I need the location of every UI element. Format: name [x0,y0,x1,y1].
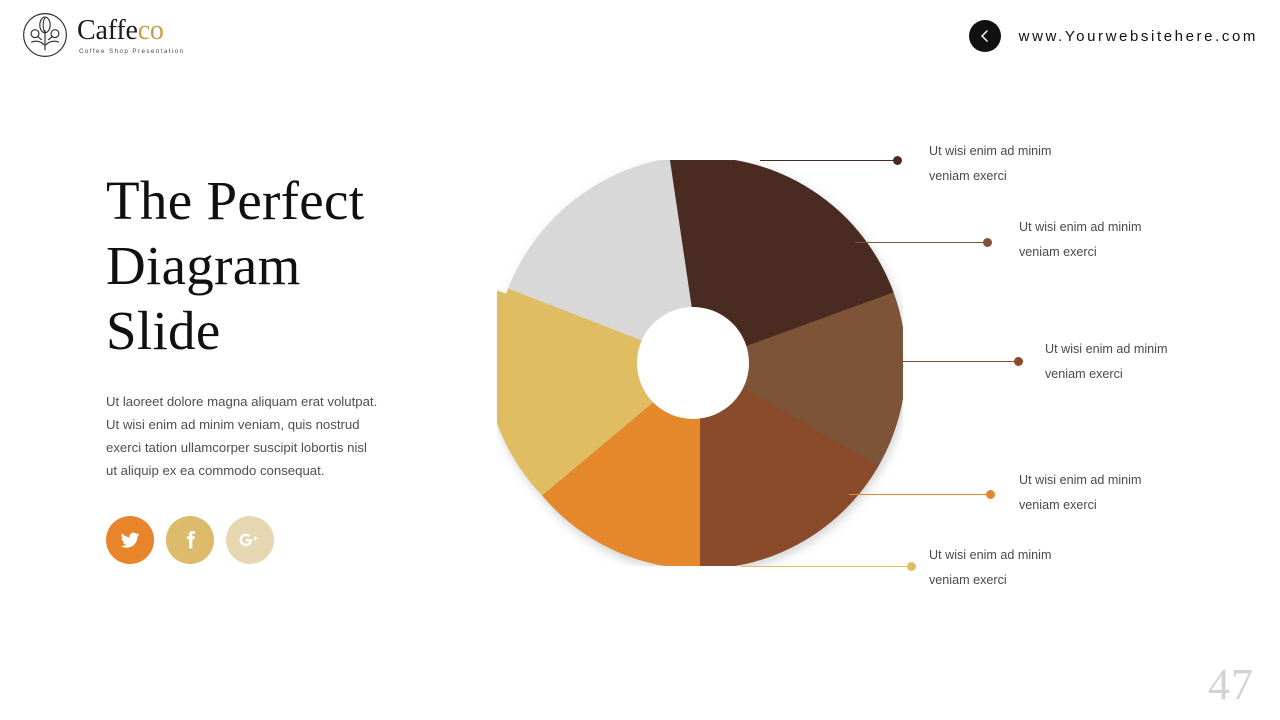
title-line-2: Diagram [106,235,301,296]
facebook-icon [179,529,201,551]
callout-4: Ut wisi enim ad minim veniam exerci [1019,468,1141,518]
title-line-1: The Perfect [106,170,364,231]
left-content-column: The Perfect Diagram Slide Ut laoreet dol… [106,168,446,564]
back-button[interactable] [969,20,1001,52]
page-title: The Perfect Diagram Slide [106,168,446,363]
callout-3: Ut wisi enim ad minim veniam exerci [1045,337,1167,387]
callout-3-line-1: Ut wisi enim ad minim [1045,337,1167,362]
connector-line-5 [740,566,915,567]
slide-header: Caffeco Coffee Shop Presentation www.You… [0,0,1280,72]
connector-dot-1 [893,156,902,165]
title-line-3: Slide [106,300,221,361]
callout-5: Ut wisi enim ad minim veniam exerci [929,543,1051,593]
logo-word-accent: co [138,15,164,46]
social-button-twitter[interactable] [106,516,154,564]
connector-line-2 [855,242,990,243]
callout-2: Ut wisi enim ad minim veniam exerci [1019,215,1141,265]
connector-dot-2 [983,238,992,247]
twitter-icon [119,529,141,551]
callout-1: Ut wisi enim ad minim veniam exerci [929,139,1051,189]
website-area: www.Yourwebsitehere.com [969,20,1258,52]
connector-dot-4 [986,490,995,499]
callout-5-line-1: Ut wisi enim ad minim [929,543,1051,568]
callout-5-line-2: veniam exerci [929,568,1051,593]
connector-line-4 [849,494,995,495]
callout-2-line-1: Ut wisi enim ad minim [1019,215,1141,240]
social-button-facebook[interactable] [166,516,214,564]
social-button-googleplus[interactable] [226,516,274,564]
logo-tagline: Coffee Shop Presentation [79,48,185,55]
callout-1-line-2: veniam exerci [929,164,1051,189]
google-plus-icon [238,528,262,552]
callout-2-line-2: veniam exerci [1019,240,1141,265]
callout-3-line-2: veniam exerci [1045,362,1167,387]
connector-dot-5 [907,562,916,571]
connector-line-3 [895,361,1022,362]
social-links [106,516,446,564]
callout-1-line-1: Ut wisi enim ad minim [929,139,1051,164]
body-line-2: Ut wisi enim ad minim veniam, quis nostr… [106,417,360,432]
website-url[interactable]: www.Yourwebsitehere.com [1019,28,1258,45]
body-line-4: ut aliquip ex ea commodo consequat. [106,463,324,478]
body-line-3: exerci tation ullamcorper suscipit lobor… [106,440,367,455]
brand-logo[interactable]: Caffeco Coffee Shop Presentation [22,12,185,58]
coffee-plant-circle-icon [22,12,68,58]
body-line-1: Ut laoreet dolore magna aliquam erat vol… [106,394,377,409]
connector-dot-3 [1014,357,1023,366]
connector-line-1 [760,160,900,161]
logo-word-primary: Caffe [77,15,138,46]
callout-4-line-2: veniam exerci [1019,493,1141,518]
callout-4-line-1: Ut wisi enim ad minim [1019,468,1141,493]
chevron-left-icon [978,29,992,43]
logo-wordmark: Caffeco [77,17,185,45]
donut-center-hole [637,307,749,419]
page-number: 47 [1208,659,1254,710]
body-paragraph: Ut laoreet dolore magna aliquam erat vol… [106,390,424,482]
donut-chart [497,160,903,566]
